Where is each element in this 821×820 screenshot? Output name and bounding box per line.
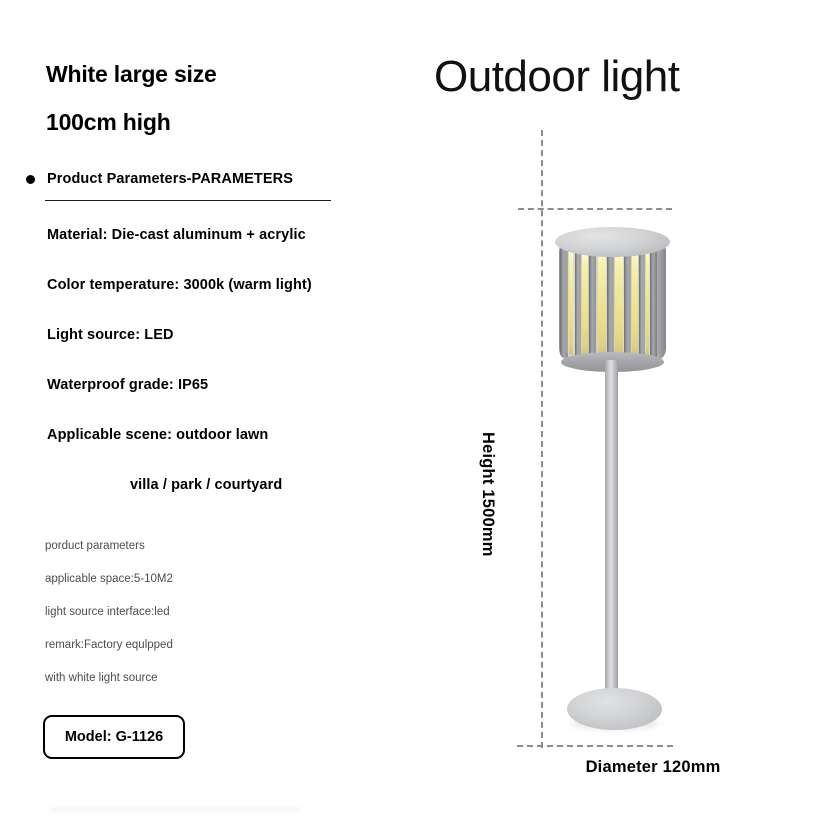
section-heading-row: Product Parameters-PARAMETERS (26, 171, 293, 187)
diameter-dimension-label: Diameter 120mm (420, 758, 821, 777)
lamp-head-top-cap (555, 227, 670, 257)
product-info-panel: White large size 100cm high Product Para… (0, 0, 420, 820)
lamp-base-disc (567, 688, 662, 730)
lamp-light-slot (569, 247, 574, 356)
sub-parameter-remark: remark:Factory equlpped (45, 640, 385, 652)
guide-line-vertical (541, 130, 543, 748)
lamp-fin (560, 246, 567, 357)
page-title: Outdoor light (434, 52, 679, 102)
sub-parameter-title: porduct parameters (45, 541, 385, 553)
lamp-illustration (420, 0, 821, 820)
sub-parameter-remark-continued: with white light source (45, 673, 385, 685)
parameter-material: Material: Die-cast aluminum + acrylic (47, 228, 407, 243)
lamp-light-slot (582, 247, 588, 356)
lamp-head-body (559, 241, 666, 359)
headline-primary: White large size (46, 61, 217, 88)
model-badge-label: Model: G-1126 (65, 729, 163, 745)
section-heading-label: Product Parameters-PARAMETERS (47, 171, 293, 187)
bullet-dot-icon (26, 175, 35, 184)
lamp-light-slot (598, 247, 607, 356)
parameter-color-temperature: Color temperature: 3000k (warm light) (47, 278, 407, 293)
lamp-head (555, 227, 670, 367)
lamp-pole (605, 360, 618, 712)
lamp-fin (639, 246, 645, 357)
model-badge: Model: G-1126 (43, 715, 185, 759)
height-dimension-label: Height 1500mm (478, 432, 497, 557)
lamp-fins-group (559, 241, 666, 359)
sub-parameter-list: porduct parameters applicable space:5-10… (45, 541, 385, 706)
lamp-base-shadow (571, 716, 659, 730)
parameter-list: Material: Die-cast aluminum + acrylic Co… (47, 228, 407, 493)
parameter-waterproof-grade: Waterproof grade: IP65 (47, 378, 407, 393)
sub-parameter-applicable-space: applicable space:5-10M2 (45, 574, 385, 586)
lamp-light-slot (632, 247, 637, 356)
bottom-shadow-artifact (50, 808, 300, 811)
parameter-light-source: Light source: LED (47, 328, 407, 343)
headline-secondary: 100cm high (46, 109, 171, 136)
lamp-fin (650, 246, 656, 357)
product-illustration-panel: Outdoor light (420, 0, 821, 820)
parameter-applicable-scene: Applicable scene: outdoor lawn (47, 428, 407, 443)
lamp-light-slot (646, 247, 650, 356)
parameter-scene-detail: villa / park / courtyard (47, 478, 407, 493)
lamp-light-slot (615, 247, 623, 356)
lamp-head-bottom-rim (561, 352, 664, 372)
section-divider (45, 200, 331, 201)
lamp-fin (575, 246, 581, 357)
lamp-fin (607, 246, 614, 357)
lamp-fin (624, 246, 631, 357)
lamp-fin (589, 246, 596, 357)
sub-parameter-light-source-interface: light source interface:led (45, 607, 385, 619)
